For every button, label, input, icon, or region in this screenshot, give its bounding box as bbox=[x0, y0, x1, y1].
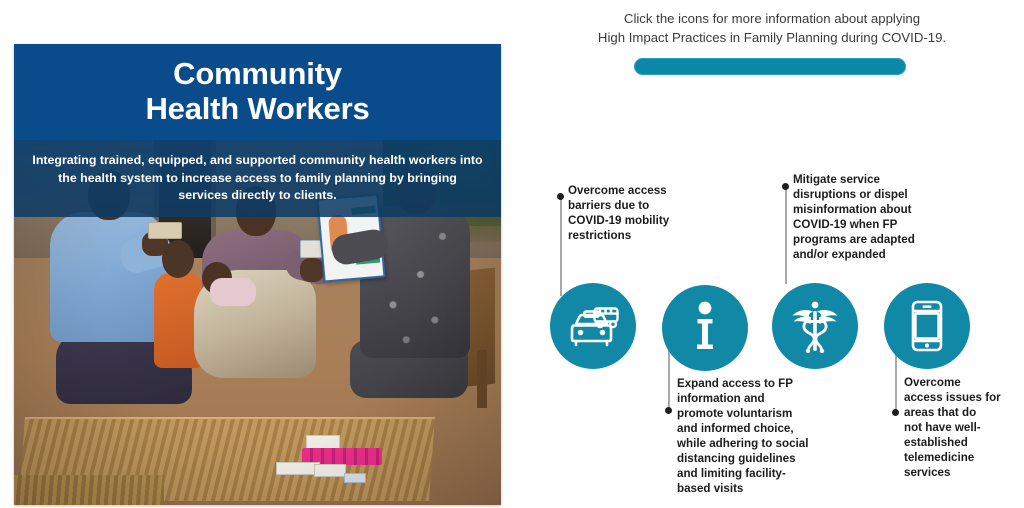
connector-dot-transport bbox=[557, 193, 564, 200]
connector-line-information bbox=[668, 348, 670, 410]
connector-dot-telemedicine bbox=[892, 409, 899, 416]
icon-button-telemedicine[interactable] bbox=[884, 283, 970, 369]
instruction-text: Click the icons for more information abo… bbox=[520, 10, 1024, 47]
connector-line-telemedicine bbox=[895, 350, 897, 412]
callout-transport: Overcome access barriers due to COVID-19… bbox=[568, 183, 696, 243]
pill-divider-button[interactable] bbox=[634, 58, 906, 75]
connector-dot-services bbox=[782, 183, 789, 190]
card-subtitle: Integrating trained, equipped, and suppo… bbox=[14, 152, 501, 205]
infographic-page: Community Health Workers Integrating tra… bbox=[0, 0, 1024, 508]
card-header: Community Health Workers bbox=[14, 44, 501, 140]
connector-line-services bbox=[785, 186, 787, 284]
icon-button-services[interactable] bbox=[772, 283, 858, 369]
card-title: Community Health Workers bbox=[145, 57, 369, 126]
connector-line-transport bbox=[560, 196, 562, 296]
mobile-phone-icon bbox=[909, 299, 945, 353]
community-health-workers-card: Community Health Workers Integrating tra… bbox=[14, 44, 501, 505]
icon-button-information[interactable] bbox=[662, 285, 748, 371]
taxi-bus-icon bbox=[566, 304, 620, 348]
connector-dot-information bbox=[665, 407, 672, 414]
callout-services: Mitigate service disruptions or dispel m… bbox=[793, 172, 943, 262]
icon-button-transport[interactable] bbox=[550, 283, 636, 369]
card-subtitle-band: Integrating trained, equipped, and suppo… bbox=[14, 140, 501, 217]
interactive-panel: Click the icons for more information abo… bbox=[520, 0, 1024, 508]
information-icon bbox=[690, 301, 720, 355]
caduceus-icon bbox=[789, 299, 841, 353]
callout-information: Expand access to FP information and prom… bbox=[677, 376, 837, 497]
callout-telemedicine: Overcome access issues for areas that do… bbox=[904, 375, 1024, 480]
